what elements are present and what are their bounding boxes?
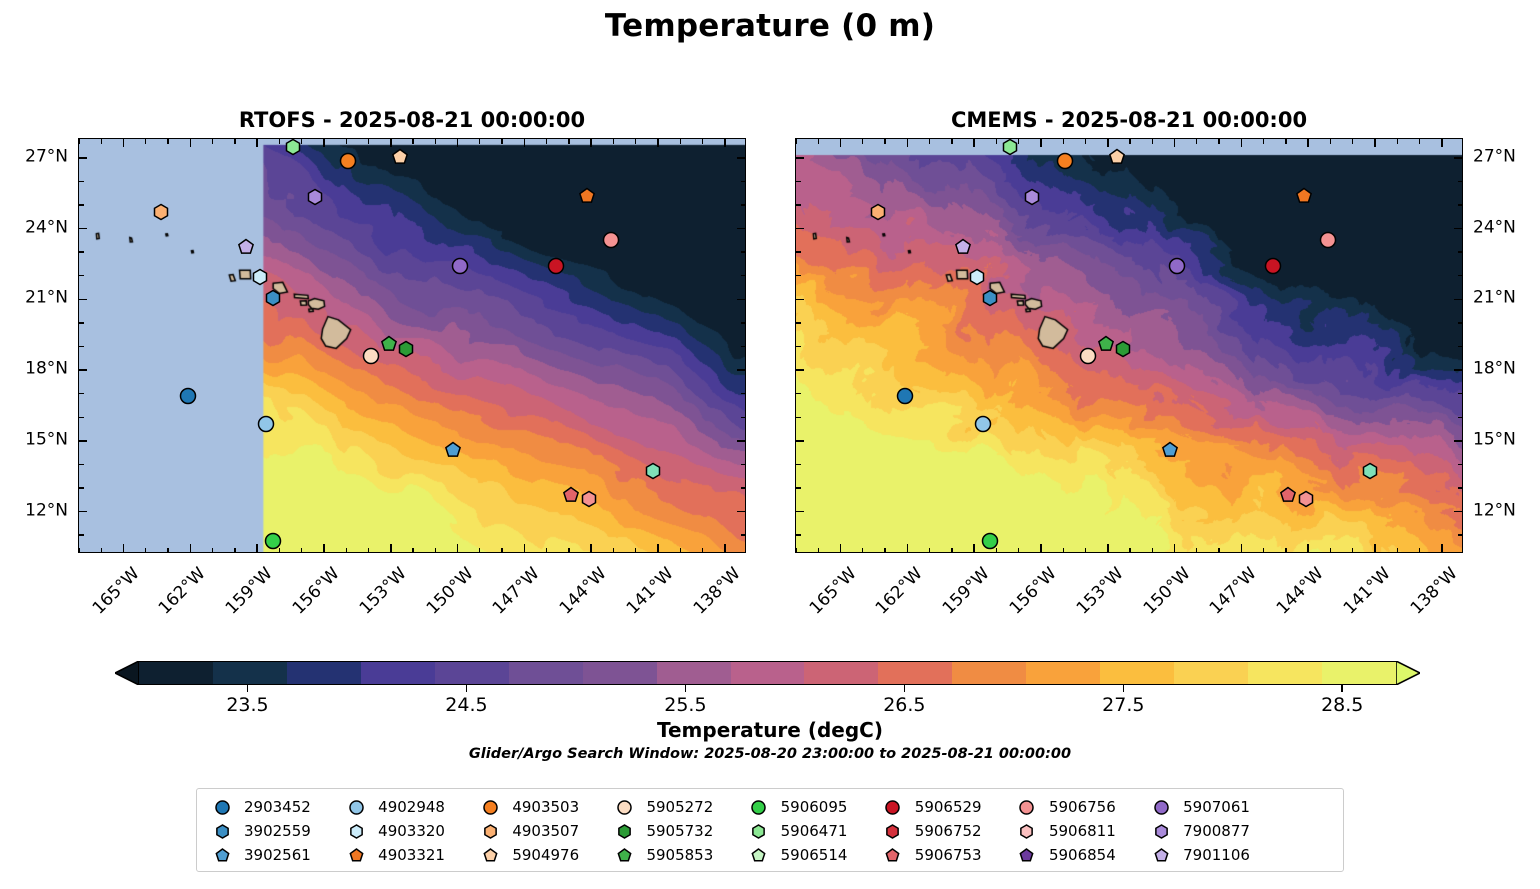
argo-float-marker[interactable] — [1264, 258, 1281, 275]
y-tick-minor — [741, 417, 746, 418]
colorbar-tick-label: 28.5 — [1321, 694, 1363, 716]
x-tick-major — [457, 139, 459, 147]
x-tick-major — [1107, 139, 1109, 147]
x-tick-major — [390, 139, 392, 147]
x-tick-minor — [101, 548, 102, 553]
colorbar-segment — [731, 662, 805, 684]
legend-label: 4903503 — [507, 798, 579, 816]
legend-item[interactable]: 5905732 — [607, 819, 741, 843]
legend-grid: 2903452390255939025614902948490332049033… — [205, 795, 1335, 867]
colorbar-segment — [1026, 662, 1100, 684]
legend-item[interactable]: 4903321 — [339, 843, 473, 867]
x-tick-major — [1441, 544, 1443, 552]
x-tick-major — [907, 544, 909, 552]
x-tick-minor — [346, 548, 347, 553]
argo-float-marker[interactable] — [563, 487, 580, 504]
x-tick-label: 138°W — [1408, 565, 1461, 618]
argo-float-marker[interactable] — [1280, 487, 1297, 504]
y-tick-major — [796, 228, 804, 230]
argo-float-marker[interactable] — [1362, 463, 1379, 480]
x-tick-major — [1241, 544, 1243, 552]
x-tick-label: 165°W — [90, 565, 143, 618]
x-tick-major — [973, 139, 975, 147]
y-tick-minor — [796, 417, 801, 418]
y-tick-label: 12°N — [1473, 502, 1516, 519]
legend-marker-icon — [205, 800, 239, 815]
legend-label: 3902561 — [239, 846, 311, 864]
colorbar-segment — [1248, 662, 1322, 684]
x-tick-minor — [145, 548, 146, 553]
x-tick-minor — [1330, 548, 1331, 553]
x-tick-major — [1374, 544, 1376, 552]
x-tick-minor — [680, 139, 681, 144]
x-tick-minor — [1330, 139, 1331, 144]
x-tick-major — [190, 544, 192, 552]
x-tick-minor — [1263, 139, 1264, 144]
x-tick-minor — [546, 548, 547, 553]
x-tick-major — [1374, 139, 1376, 147]
y-tick-minor — [79, 346, 84, 347]
y-tick-minor — [79, 393, 84, 394]
y-tick-minor — [796, 464, 801, 465]
argo-float-marker[interactable] — [445, 442, 462, 459]
panel-rtofs-map[interactable] — [78, 138, 746, 553]
y-tick-minor — [79, 251, 84, 252]
y-tick-minor — [79, 322, 84, 323]
x-tick-minor — [862, 548, 863, 553]
argo-float-marker[interactable] — [307, 188, 324, 205]
y-tick-major — [79, 511, 87, 513]
legend-label: 5906753 — [910, 846, 982, 864]
legend-item[interactable]: 5906514 — [742, 843, 876, 867]
x-tick-minor — [1419, 548, 1420, 553]
x-tick-minor — [613, 139, 614, 144]
y-tick-minor — [1458, 181, 1463, 182]
x-tick-major — [1241, 139, 1243, 147]
legend-item[interactable]: 5906854 — [1010, 843, 1144, 867]
colorbar-tick — [1341, 685, 1343, 692]
y-tick-minor — [79, 487, 84, 488]
colorbar-segment — [657, 662, 731, 684]
argo-float-marker[interactable] — [870, 204, 887, 221]
y-tick-major — [79, 228, 87, 230]
x-tick-minor — [145, 139, 146, 144]
y-tick-major — [737, 299, 745, 301]
y-tick-major — [737, 228, 745, 230]
panel-cmems-title: CMEMS - 2025-08-21 00:00:00 — [795, 108, 1463, 138]
x-tick-minor — [435, 139, 436, 144]
float-legend[interactable]: 2903452390255939025614902948490332049033… — [196, 788, 1344, 872]
legend-label: 5906811 — [1044, 822, 1116, 840]
argo-float-marker[interactable] — [547, 258, 564, 275]
argo-float-marker[interactable] — [603, 232, 620, 249]
argo-float-marker[interactable] — [897, 388, 914, 405]
colorbar-extend-low — [115, 661, 139, 685]
legend-label: 4903321 — [373, 846, 445, 864]
colorbar-tick — [685, 685, 687, 692]
argo-float-marker[interactable] — [1162, 442, 1179, 459]
x-tick-major — [1174, 139, 1176, 147]
x-tick-major — [123, 139, 125, 147]
legend-item[interactable]: 4903320 — [339, 819, 473, 843]
y-tick-major — [737, 511, 745, 513]
legend-item[interactable]: 5906752 — [876, 819, 1010, 843]
x-tick-label: 141°W — [624, 565, 677, 618]
legend-marker-icon — [607, 848, 641, 863]
argo-float-marker[interactable] — [380, 336, 397, 353]
legend-label: 4902948 — [373, 798, 445, 816]
x-tick-minor — [1152, 139, 1153, 144]
argo-float-marker[interactable] — [580, 490, 597, 507]
argo-float-marker[interactable] — [1024, 188, 1041, 205]
x-tick-minor — [234, 139, 235, 144]
x-tick-minor — [795, 139, 796, 144]
argo-float-marker[interactable] — [398, 340, 415, 357]
y-tick-minor — [1458, 322, 1463, 323]
legend-marker-icon — [1010, 824, 1044, 839]
y-tick-minor — [741, 181, 746, 182]
legend-item[interactable]: 4902948 — [339, 795, 473, 819]
x-tick-major — [657, 544, 659, 552]
argo-float-marker[interactable] — [981, 533, 998, 550]
x-tick-minor — [1085, 139, 1086, 144]
legend-item[interactable]: 5907061 — [1144, 795, 1278, 819]
x-tick-major — [1441, 139, 1443, 147]
argo-float-marker[interactable] — [578, 187, 595, 204]
x-tick-minor — [1397, 548, 1398, 553]
legend-label: 5906471 — [776, 822, 848, 840]
x-tick-label: 159°W — [940, 565, 993, 618]
legend-marker-icon — [1010, 800, 1044, 815]
x-tick-major — [256, 139, 258, 147]
legend-marker-icon — [742, 800, 776, 815]
x-tick-label: 159°W — [223, 565, 276, 618]
y-tick-label: 21°N — [1473, 290, 1516, 307]
panel-rtofs[interactable]: RTOFS - 2025-08-21 00:00:00 27°N24°N21°N… — [78, 138, 746, 553]
legend-label: 5906095 — [776, 798, 848, 816]
colorbar-segment — [878, 662, 952, 684]
x-tick-minor — [368, 548, 369, 553]
y-tick-minor — [79, 464, 84, 465]
y-tick-major — [1454, 299, 1462, 301]
x-tick-minor — [1352, 139, 1353, 144]
y-tick-minor — [796, 487, 801, 488]
argo-float-marker[interactable] — [238, 239, 255, 256]
argo-float-marker[interactable] — [955, 239, 972, 256]
x-tick-minor — [212, 548, 213, 553]
colorbar-segment — [1100, 662, 1174, 684]
argo-float-marker[interactable] — [981, 290, 998, 307]
y-tick-label: 12°N — [25, 502, 68, 519]
y-tick-minor — [796, 181, 801, 182]
legend-marker-icon — [473, 848, 507, 863]
colorbar: 23.524.525.526.527.528.5 — [115, 661, 1420, 685]
legend-item[interactable]: 5906756 — [1010, 795, 1144, 819]
y-tick-minor — [741, 464, 746, 465]
y-tick-major — [1454, 440, 1462, 442]
x-tick-minor — [1352, 548, 1353, 553]
legend-label: 5906514 — [776, 846, 848, 864]
x-tick-minor — [702, 548, 703, 553]
legend-item[interactable]: 5906811 — [1010, 819, 1144, 843]
legend-marker-icon — [876, 848, 910, 863]
argo-float-marker[interactable] — [1168, 258, 1185, 275]
x-tick-major — [323, 544, 325, 552]
x-tick-minor — [1285, 139, 1286, 144]
argo-float-marker[interactable] — [1079, 347, 1096, 364]
x-tick-minor — [412, 548, 413, 553]
figure-title: Temperature (0 m) — [0, 8, 1540, 44]
x-tick-major — [524, 544, 526, 552]
legend-marker-icon — [339, 800, 373, 815]
legend-label: 4903507 — [507, 822, 579, 840]
x-tick-major — [323, 139, 325, 147]
y-tick-major — [79, 369, 87, 371]
x-tick-minor — [346, 139, 347, 144]
argo-float-marker[interactable] — [264, 533, 281, 550]
legend-item[interactable]: 5905272 — [607, 795, 741, 819]
x-tick-minor — [1397, 139, 1398, 144]
colorbar-extend-high — [1396, 661, 1420, 685]
colorbar-tick-label: 27.5 — [1102, 694, 1144, 716]
x-tick-major — [590, 544, 592, 552]
x-tick-major — [1040, 139, 1042, 147]
y-tick-major — [796, 369, 804, 371]
y-tick-label: 24°N — [25, 219, 68, 236]
x-tick-minor — [1196, 548, 1197, 553]
colorbar-tick-label: 23.5 — [226, 694, 268, 716]
legend-label: 5905732 — [641, 822, 713, 840]
legend-label: 5905272 — [641, 798, 713, 816]
x-tick-minor — [635, 548, 636, 553]
argo-float-marker[interactable] — [969, 268, 986, 285]
legend-item[interactable]: 7901106 — [1144, 843, 1278, 867]
y-tick-minor — [1458, 464, 1463, 465]
argo-float-marker[interactable] — [264, 290, 281, 307]
panel-cmems-map[interactable] — [795, 138, 1463, 553]
y-tick-minor — [1458, 251, 1463, 252]
legend-marker-icon — [1144, 824, 1178, 839]
x-tick-minor — [212, 139, 213, 144]
legend-item[interactable]: 2903452 — [205, 795, 339, 819]
legend-label: 5905853 — [641, 846, 713, 864]
legend-marker-icon — [876, 800, 910, 815]
x-tick-minor — [1063, 139, 1064, 144]
x-tick-minor — [368, 139, 369, 144]
y-tick-major — [796, 299, 804, 301]
x-tick-major — [1174, 544, 1176, 552]
argo-float-marker[interactable] — [1297, 490, 1314, 507]
x-tick-major — [190, 139, 192, 147]
argo-float-marker[interactable] — [1057, 153, 1074, 170]
y-tick-minor — [796, 251, 801, 252]
x-tick-minor — [884, 139, 885, 144]
argo-float-marker[interactable] — [284, 139, 301, 156]
legend-item[interactable]: 5904976 — [473, 843, 607, 867]
legend-item[interactable]: 7900877 — [1144, 819, 1278, 843]
x-tick-minor — [613, 548, 614, 553]
legend-label: 3902559 — [239, 822, 311, 840]
x-tick-minor — [167, 548, 168, 553]
legend-marker-icon — [876, 824, 910, 839]
colorbar-label: Temperature (degC) — [0, 718, 1540, 742]
y-tick-minor — [741, 322, 746, 323]
y-tick-major — [1454, 369, 1462, 371]
y-tick-major — [1454, 228, 1462, 230]
colorbar-segment — [1174, 662, 1248, 684]
figure-canvas: Temperature (0 m) RTOFS - 2025-08-21 00:… — [0, 0, 1540, 889]
y-tick-minor — [1458, 487, 1463, 488]
legend-item[interactable]: 5906471 — [742, 819, 876, 843]
x-tick-major — [840, 544, 842, 552]
y-tick-major — [79, 440, 87, 442]
x-tick-minor — [78, 139, 79, 144]
y-tick-minor — [741, 204, 746, 205]
argo-float-marker[interactable] — [1295, 187, 1312, 204]
argo-float-marker[interactable] — [975, 416, 992, 433]
y-tick-major — [737, 369, 745, 371]
x-tick-minor — [479, 548, 480, 553]
argo-float-marker[interactable] — [1320, 232, 1337, 249]
colorbar-segment — [213, 662, 287, 684]
panel-cmems[interactable]: CMEMS - 2025-08-21 00:00:00 27°N24°N21°N… — [795, 138, 1463, 553]
colorbar-segment — [583, 662, 657, 684]
colorbar-tick — [904, 685, 906, 692]
x-tick-minor — [1218, 548, 1219, 553]
x-tick-minor — [501, 139, 502, 144]
x-tick-major — [1307, 139, 1309, 147]
x-tick-label: 141°W — [1341, 565, 1394, 618]
argo-float-marker[interactable] — [340, 153, 357, 170]
argo-float-marker[interactable] — [391, 148, 408, 165]
legend-item[interactable]: 5906529 — [876, 795, 1010, 819]
legend-marker-icon — [1010, 848, 1044, 863]
x-tick-minor — [1419, 139, 1420, 144]
colorbar-segment — [287, 662, 361, 684]
colorbar-tick-label: 25.5 — [664, 694, 706, 716]
x-tick-minor — [862, 139, 863, 144]
argo-float-marker[interactable] — [1001, 139, 1018, 156]
argo-float-marker[interactable] — [1108, 148, 1125, 165]
x-tick-minor — [78, 548, 79, 553]
x-tick-minor — [479, 139, 480, 144]
x-tick-label: 138°W — [691, 565, 744, 618]
x-tick-minor — [546, 139, 547, 144]
x-tick-minor — [635, 139, 636, 144]
argo-float-marker[interactable] — [451, 258, 468, 275]
y-tick-minor — [79, 181, 84, 182]
x-tick-minor — [234, 548, 235, 553]
x-tick-minor — [884, 548, 885, 553]
argo-float-marker[interactable] — [645, 463, 662, 480]
legend-marker-icon — [473, 824, 507, 839]
colorbar-segment — [1322, 662, 1396, 684]
y-tick-minor — [741, 346, 746, 347]
y-tick-minor — [796, 346, 801, 347]
x-tick-major — [840, 139, 842, 147]
y-tick-minor — [1458, 534, 1463, 535]
argo-float-marker[interactable] — [153, 204, 170, 221]
argo-float-marker[interactable] — [252, 268, 269, 285]
legend-item[interactable]: 3902561 — [205, 843, 339, 867]
legend-item[interactable]: 3902559 — [205, 819, 339, 843]
y-tick-minor — [1458, 393, 1463, 394]
y-tick-major — [79, 157, 87, 159]
colorbar-tick — [247, 685, 249, 692]
x-tick-major — [907, 139, 909, 147]
x-tick-minor — [1129, 548, 1130, 553]
colorbar-segment — [804, 662, 878, 684]
argo-float-marker[interactable] — [1115, 340, 1132, 357]
x-tick-label: 156°W — [290, 565, 343, 618]
y-tick-major — [1454, 511, 1462, 513]
colorbar-tick — [466, 685, 468, 692]
legend-item[interactable]: 5906095 — [742, 795, 876, 819]
colorbar-bands — [138, 661, 1397, 685]
x-tick-major — [457, 544, 459, 552]
y-tick-minor — [79, 275, 84, 276]
y-tick-minor — [796, 275, 801, 276]
legend-label: 5904976 — [507, 846, 579, 864]
argo-float-marker[interactable] — [1097, 336, 1114, 353]
legend-marker-icon — [1144, 800, 1178, 815]
legend-item[interactable]: 5906753 — [876, 843, 1010, 867]
x-tick-label: 162°W — [156, 565, 209, 618]
x-tick-minor — [818, 548, 819, 553]
y-tick-label: 18°N — [1473, 361, 1516, 378]
x-tick-major — [1107, 544, 1109, 552]
x-tick-major — [657, 139, 659, 147]
legend-item[interactable]: 4903507 — [473, 819, 607, 843]
y-tick-minor — [796, 322, 801, 323]
colorbar-segment — [139, 662, 213, 684]
legend-marker-icon — [607, 824, 641, 839]
legend-label: 4903320 — [373, 822, 445, 840]
legend-label: 5907061 — [1178, 798, 1250, 816]
colorbar-segment — [361, 662, 435, 684]
y-tick-label: 15°N — [25, 431, 68, 448]
y-tick-label: 27°N — [1473, 148, 1516, 165]
x-tick-label: 156°W — [1007, 565, 1060, 618]
x-tick-major — [724, 544, 726, 552]
colorbar-segment — [435, 662, 509, 684]
argo-float-marker[interactable] — [180, 388, 197, 405]
y-tick-minor — [1458, 275, 1463, 276]
y-tick-minor — [79, 534, 84, 535]
x-tick-minor — [951, 139, 952, 144]
legend-item[interactable]: 4903503 — [473, 795, 607, 819]
colorbar-tick-label: 26.5 — [883, 694, 925, 716]
x-tick-label: 153°W — [357, 565, 410, 618]
argo-float-marker[interactable] — [362, 347, 379, 364]
y-tick-major — [796, 440, 804, 442]
x-tick-minor — [680, 548, 681, 553]
y-tick-minor — [79, 204, 84, 205]
x-tick-label: 153°W — [1074, 565, 1127, 618]
x-tick-major — [590, 139, 592, 147]
colorbar-segment — [952, 662, 1026, 684]
legend-marker-icon — [205, 848, 239, 863]
x-tick-minor — [951, 548, 952, 553]
legend-label: 5906854 — [1044, 846, 1116, 864]
x-tick-minor — [1063, 548, 1064, 553]
x-tick-minor — [412, 139, 413, 144]
legend-label: 5906756 — [1044, 798, 1116, 816]
y-tick-minor — [741, 393, 746, 394]
argo-float-marker[interactable] — [258, 416, 275, 433]
legend-item[interactable]: 5905853 — [607, 843, 741, 867]
y-tick-minor — [741, 275, 746, 276]
